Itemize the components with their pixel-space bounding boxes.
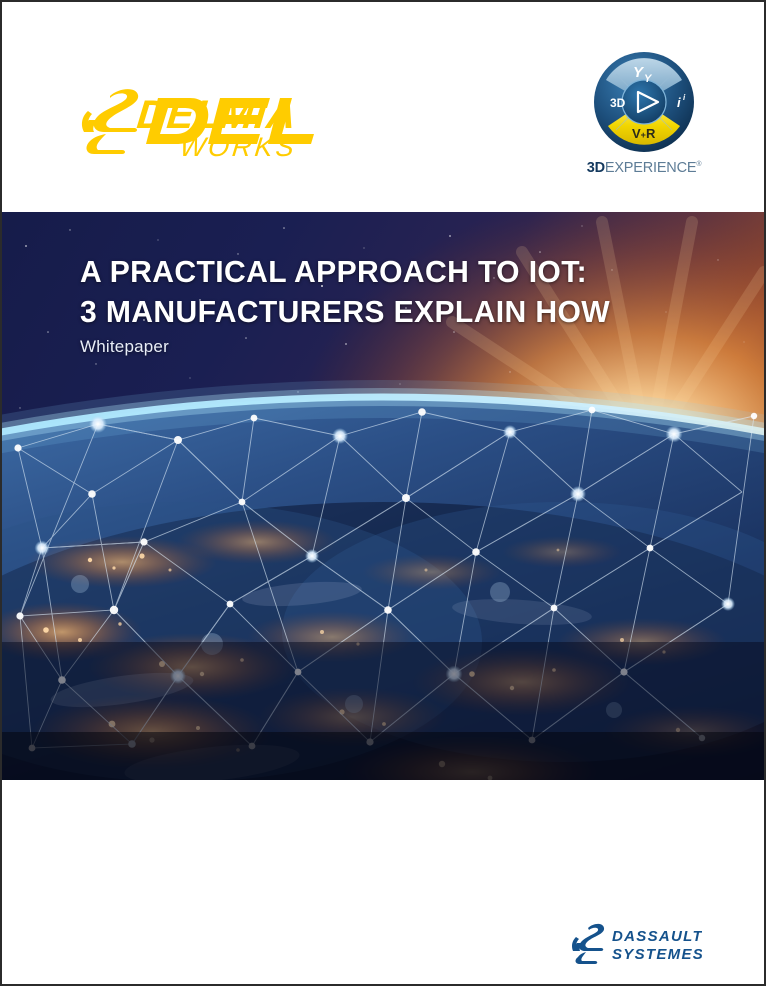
works-wordmark: WORKS <box>178 131 298 162</box>
3dexperience-compass-icon: 3D i i V+R Y Y <box>592 50 696 154</box>
cover-title-line-1: A PRACTICAL APPROACH TO IOT: <box>80 252 610 292</box>
document-page: DELMIA WORKS <box>0 0 766 986</box>
dassault-wordmark-line2: SYSTEMES <box>612 946 702 963</box>
delmia-works-text-svg: DELMIA WORKS <box>80 70 330 162</box>
wordmark-experience: EXPERIENCE <box>605 160 696 176</box>
registered-mark: ® <box>696 161 701 168</box>
dassault-wordmark-line1: DASSAULT <box>612 928 702 945</box>
cover-subtitle: Whitepaper <box>80 337 626 357</box>
delmia-works-logo: DELMIA WORKS <box>80 70 330 162</box>
compass-center-disc <box>622 80 666 124</box>
hero-text-block: A PRACTICAL APPROACH TO IOT: 3 MANUFACTU… <box>80 252 626 357</box>
dassault-systemes-logo: DASSAULT SYSTEMES <box>572 914 702 966</box>
hero-image: A PRACTICAL APPROACH TO IOT: 3 MANUFACTU… <box>2 212 764 780</box>
3dexperience-badge: 3D i i V+R Y Y 3DEXPERIENCE® <box>582 50 706 176</box>
page-footer: DASSAULT SYSTEMES <box>2 780 764 984</box>
wordmark-3d: 3D <box>587 160 605 176</box>
3dexperience-wordmark: 3DEXPERIENCE® <box>582 160 706 176</box>
compass-label-3d: 3D <box>610 96 626 110</box>
compass-label-i: i <box>677 95 681 110</box>
page-header: DELMIA WORKS <box>2 2 764 212</box>
bottom-vignette-deep <box>2 732 764 780</box>
cover-title-line-2: 3 MANUFACTURERS EXPLAIN HOW <box>80 292 610 332</box>
